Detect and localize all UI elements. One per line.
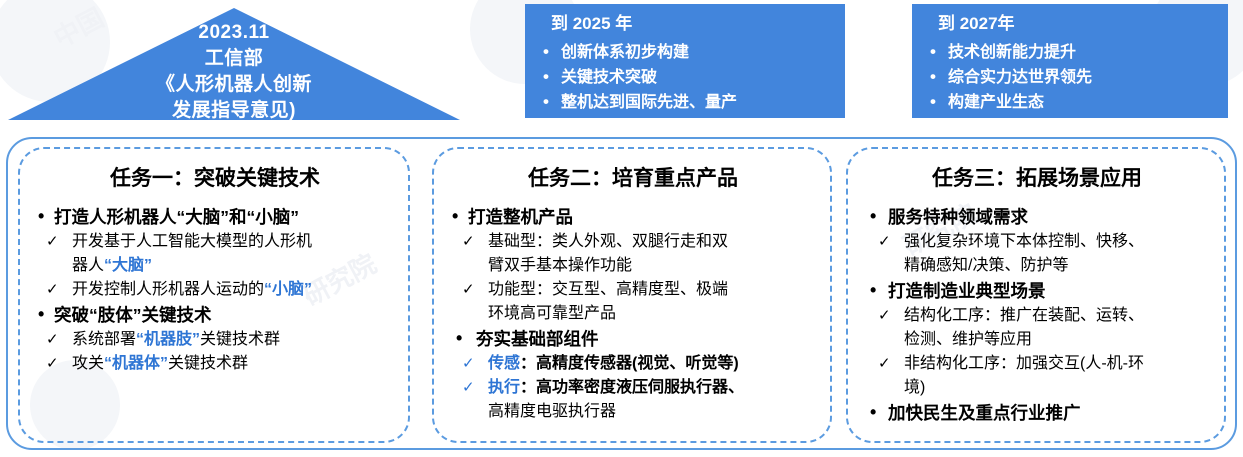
policy-name-line2: 发展指导意见) <box>8 98 460 124</box>
list-item: 攻关“机器体”关键技术群 <box>34 352 396 376</box>
list-item-cont: 检测、维护等应用 <box>904 328 1212 352</box>
list-item: 整机达到国际先进、量产 <box>539 90 835 115</box>
task-1-body: 打造人形机器人“大脑”和“小脑” 开发基于人工智能大模型的人形机 器人“大脑” … <box>34 204 396 376</box>
list-item: 突破“肢体”关键技术 <box>34 302 396 328</box>
milestone-2025-list: 创新体系初步构建 关键技术突破 整机达到国际先进、量产 <box>539 40 835 115</box>
list-item-text: 开发基于人工智能大模型的人形机 <box>72 233 312 250</box>
list-item: 综合实力达世界领先 <box>926 65 1218 90</box>
milestone-2027-list: 技术创新能力提升 综合实力达世界领先 构建产业生态 <box>926 40 1218 115</box>
list-item-cont: 器人“大脑” <box>72 254 396 278</box>
list-item: 强化复杂环境下本体控制、快移、 精确感知/决策、防护等 <box>862 230 1212 278</box>
milestone-box-2027: 到 2027年 技术创新能力提升 综合实力达世界领先 构建产业生态 <box>912 4 1228 118</box>
list-item-text: 基础型：类人外观、双腿行走和双 <box>488 233 728 250</box>
list-item: 结构化工序：推广在装配、运转、 检测、维护等应用 <box>862 304 1212 352</box>
task-2-title: 任务二：培育重点产品 <box>448 164 818 194</box>
list-item: 传感：高精度传感器(视觉、听觉等) <box>448 352 818 376</box>
list-item: 系统部署“机器肢”关键技术群 <box>34 328 396 352</box>
list-item-cont: 臂双手基本操作功能 <box>488 254 818 278</box>
milestone-2027-title: 到 2027年 <box>938 12 1218 36</box>
policy-triangle-text: 2023.11 工信部 《人形机器人创新 发展指导意见) <box>8 20 460 124</box>
list-item: 功能型：交互型、高精度型、极端 环境高可靠型产品 <box>448 278 818 326</box>
list-item: 执行：高功率密度液压伺服执行器、 高精度电驱执行器 <box>448 376 818 424</box>
list-item: 创新体系初步构建 <box>539 40 835 65</box>
infographic-root: 中国 研究院 研究院 2023.11 工信部 《人形机器人创新 发展指导意见) … <box>0 0 1243 457</box>
list-item: 打造制造业典型场景 <box>862 278 1212 304</box>
list-item: 打造整机产品 <box>448 204 818 230</box>
task-panel-2: 任务二：培育重点产品 打造整机产品 基础型：类人外观、双腿行走和双 臂双手基本操… <box>432 147 832 443</box>
list-item: 基础型：类人外观、双腿行走和双 臂双手基本操作功能 <box>448 230 818 278</box>
task-1-title: 任务一：突破关键技术 <box>34 164 396 194</box>
list-item: 构建产业生态 <box>926 90 1218 115</box>
list-item-cont: 环境高可靠型产品 <box>488 302 818 326</box>
task-3-body: 服务特种领域需求 强化复杂环境下本体控制、快移、 精确感知/决策、防护等 打造制… <box>862 204 1212 426</box>
list-item-text: 结构化工序：推广在装配、运转、 <box>904 307 1144 324</box>
task-panel-3: 任务三：拓展场景应用 服务特种领域需求 强化复杂环境下本体控制、快移、 精确感知… <box>846 147 1226 443</box>
milestone-2025-title: 到 2025 年 <box>551 12 835 36</box>
list-item-cont: 精确感知/决策、防护等 <box>904 254 1212 278</box>
list-item: 开发控制人形机器人运动的“小脑” <box>34 278 396 302</box>
list-item: 技术创新能力提升 <box>926 40 1218 65</box>
task-panel-1: 任务一：突破关键技术 打造人形机器人“大脑”和“小脑” 开发基于人工智能大模型的… <box>18 147 410 443</box>
task-2-body: 打造整机产品 基础型：类人外观、双腿行走和双 臂双手基本操作功能 功能型：交互型… <box>448 204 818 424</box>
list-item: 开发基于人工智能大模型的人形机 器人“大脑” <box>34 230 396 278</box>
list-item: 关键技术突破 <box>539 65 835 90</box>
task-3-title: 任务三：拓展场景应用 <box>862 164 1212 194</box>
list-item: 服务特种领域需求 <box>862 204 1212 230</box>
policy-name-line1: 《人形机器人创新 <box>8 72 460 98</box>
policy-date: 2023.11 <box>8 20 460 46</box>
list-item-text: 功能型：交互型、高精度型、极端 <box>488 281 728 298</box>
list-item-cont: 境) <box>904 376 1212 400</box>
list-item-cont: 高精度电驱执行器 <box>488 400 818 424</box>
list-item: 非结构化工序：加强交互(人-机-环 境) <box>862 352 1212 400</box>
list-item-text: 强化复杂环境下本体控制、快移、 <box>904 233 1144 250</box>
list-item: 打造人形机器人“大脑”和“小脑” <box>34 204 396 230</box>
list-item-text: 非结构化工序：加强交互(人-机-环 <box>904 355 1144 372</box>
list-item: 夯实基础部组件 <box>448 326 818 352</box>
policy-triangle: 2023.11 工信部 《人形机器人创新 发展指导意见) <box>8 4 460 122</box>
policy-issuer: 工信部 <box>8 46 460 72</box>
list-item: 加快民生及重点行业推广 <box>862 400 1212 426</box>
milestone-box-2025: 到 2025 年 创新体系初步构建 关键技术突破 整机达到国际先进、量产 <box>525 4 845 118</box>
